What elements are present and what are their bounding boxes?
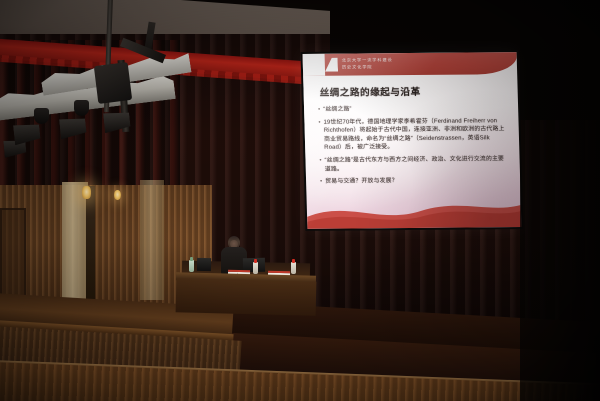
wall-sconce-lamp bbox=[82, 186, 91, 199]
right-shadow-overlay bbox=[520, 0, 600, 401]
bullet-dot-icon: • bbox=[320, 178, 322, 187]
university-logo-icon bbox=[325, 58, 338, 72]
slide-logo-text: 北京大学一流学科建设 历史文化学院 bbox=[342, 57, 393, 70]
slide-header-notch bbox=[303, 54, 326, 76]
slide-header-bar: 北京大学一流学科建设 历史文化学院 bbox=[303, 52, 518, 76]
list-item: • 贸易与交通？开放与发展？ bbox=[320, 176, 510, 186]
projection-screen: 北京大学一流学科建设 历史文化学院 丝绸之路的缘起与沿革 • “丝绸之路” • … bbox=[300, 50, 523, 231]
slide-bullet-list: • “丝绸之路” • 19世纪70年代，德国地理学家李希霍芬（Ferdinand… bbox=[318, 104, 510, 190]
list-item: • “丝绸之路” bbox=[318, 104, 508, 114]
bullet-text: 贸易与交通？开放与发展？ bbox=[325, 177, 398, 186]
wall-pillar-light bbox=[62, 182, 88, 310]
lighting-control-box bbox=[94, 62, 132, 104]
dark-wall-post bbox=[86, 186, 95, 312]
water-bottle bbox=[253, 262, 258, 274]
list-item: • “丝绸之路”是古代东方与西方之间经济、政治、文化进行交流的主要道路。 bbox=[319, 155, 510, 174]
logo-line-2: 历史文化学院 bbox=[342, 64, 393, 70]
wall-pillar-secondary bbox=[140, 180, 164, 300]
stage-spotlight-head bbox=[34, 108, 49, 124]
slide-wave-decoration bbox=[306, 193, 521, 229]
logo-line-1: 北京大学一流学科建设 bbox=[342, 57, 393, 63]
auditorium-scene: 北京大学一流学科建设 历史文化学院 丝绸之路的缘起与沿革 • “丝绸之路” • … bbox=[0, 0, 600, 401]
bullet-dot-icon: • bbox=[318, 106, 320, 115]
list-item: • 19世纪70年代，德国地理学家李希霍芬（Ferdinand Freiherr… bbox=[318, 117, 509, 153]
speaker-table-front bbox=[176, 278, 317, 315]
slide-title: 丝绸之路的缘起与沿革 bbox=[319, 84, 420, 99]
presentation-slide: 北京大学一流学科建设 历史文化学院 丝绸之路的缘起与沿革 • “丝绸之路” • … bbox=[303, 52, 522, 229]
wall-sconce-lamp-secondary bbox=[114, 190, 121, 200]
bullet-text: “丝绸之路”是古代东方与西方之间经济、政治、文化进行交流的主要道路。 bbox=[325, 155, 510, 174]
bullet-dot-icon: • bbox=[318, 118, 321, 152]
water-bottle bbox=[189, 260, 194, 272]
water-bottle bbox=[291, 262, 296, 274]
bullet-text: 19世纪70年代，德国地理学家李希霍芬（Ferdinand Freiherr v… bbox=[323, 117, 509, 153]
bullet-dot-icon: • bbox=[319, 157, 322, 174]
stage-spotlight-head bbox=[74, 100, 89, 116]
bullet-text: “丝绸之路” bbox=[323, 106, 352, 115]
